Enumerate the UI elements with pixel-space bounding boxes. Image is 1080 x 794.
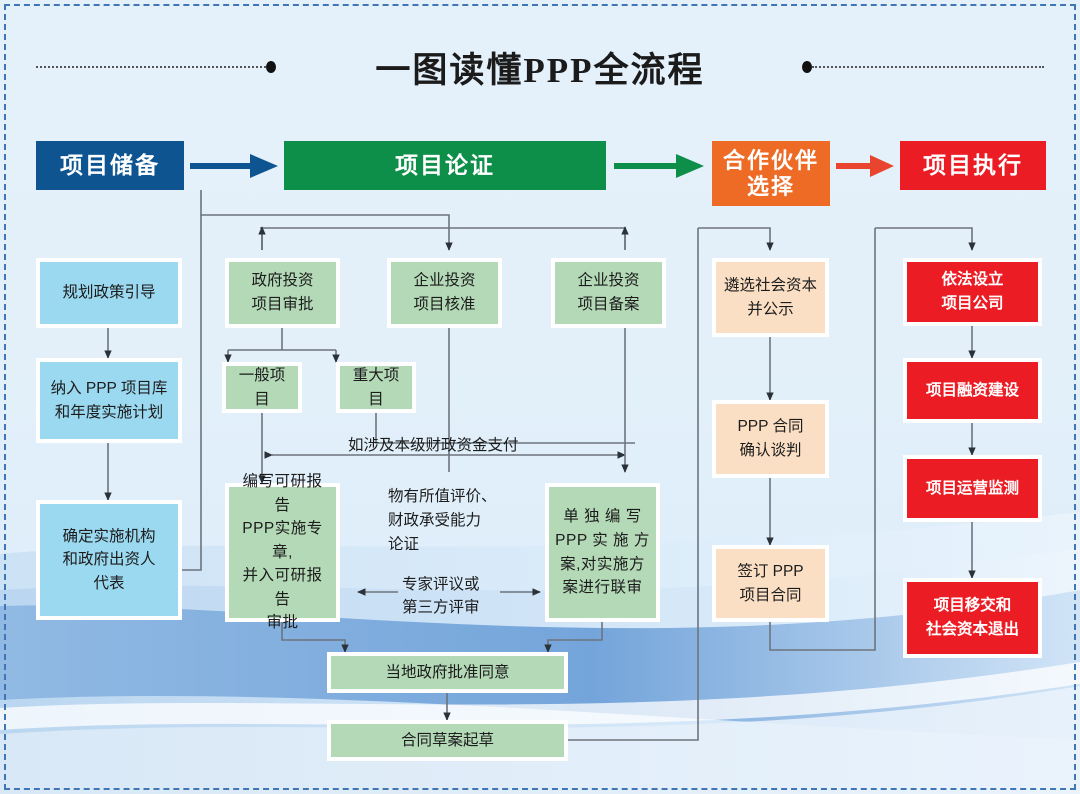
node-establish-spv[interactable]: 依法设立 项目公司	[903, 258, 1042, 326]
stage-arrow-red-icon	[836, 152, 896, 180]
label-expert-review: 专家评议或 第三方评审	[402, 573, 480, 620]
stage-band-project-argumentation[interactable]: 项目论证	[284, 141, 606, 190]
title-dot-right	[802, 61, 812, 73]
node-local-gov-approval[interactable]: 当地政府批准同意	[327, 652, 568, 693]
node-general-project[interactable]: 一般项目	[222, 362, 302, 413]
node-major-project[interactable]: 重大项目	[336, 362, 416, 413]
stage-band-project-reserve[interactable]: 项目储备	[36, 141, 184, 190]
stage-band-project-execution[interactable]: 项目执行	[900, 141, 1046, 190]
node-ppp-project-library[interactable]: 纳入 PPP 项目库 和年度实施计划	[36, 358, 182, 443]
stage-band-partner-selection[interactable]: 合作伙伴 选择	[712, 141, 830, 206]
node-ent-invest-ratify[interactable]: 企业投资 项目核准	[387, 258, 502, 328]
node-planning-policy[interactable]: 规划政策引导	[36, 258, 182, 328]
page-title: 一图读懂PPP全流程	[0, 40, 1080, 94]
stage-arrow-blue-icon	[190, 150, 280, 182]
node-operation-monitoring[interactable]: 项目运营监测	[903, 455, 1042, 522]
node-sign-ppp-contract[interactable]: 签订 PPP 项目合同	[712, 545, 829, 622]
node-ent-invest-record[interactable]: 企业投资 项目备案	[551, 258, 666, 328]
node-transfer-exit[interactable]: 项目移交和 社会资本退出	[903, 578, 1042, 658]
node-gov-invest-approval[interactable]: 政府投资 项目审批	[225, 258, 340, 328]
label-fiscal-payment: 如涉及本级财政资金支付	[348, 434, 519, 457]
stage-arrow-green-icon	[614, 150, 706, 182]
flowchart-canvas: 一图读懂PPP全流程 项目储备 项目论证 合作伙伴 选择 项目执行 规划政策引导…	[0, 0, 1080, 794]
node-feasibility-report[interactable]: 编写可研报告 PPP实施专章, 并入可研报告 审批	[225, 483, 340, 622]
node-implementing-agency[interactable]: 确定实施机构 和政府出资人 代表	[36, 500, 182, 620]
node-separate-ppp-plan[interactable]: 单 独 编 写 PPP 实 施 方 案,对实施方 案进行联审	[545, 483, 660, 622]
node-ppp-contract-negotiation[interactable]: PPP 合同 确认谈判	[712, 400, 829, 478]
node-select-social-capital[interactable]: 遴选社会资本 并公示	[712, 258, 829, 337]
title-dot-left	[266, 61, 276, 73]
page-title-text: 一图读懂PPP全流程	[375, 42, 704, 93]
node-contract-draft[interactable]: 合同草案起草	[327, 720, 568, 761]
node-financing-construction[interactable]: 项目融资建设	[903, 358, 1042, 423]
label-vfm-assessment: 物有所值评价、 财政承受能力 论证	[388, 485, 497, 557]
